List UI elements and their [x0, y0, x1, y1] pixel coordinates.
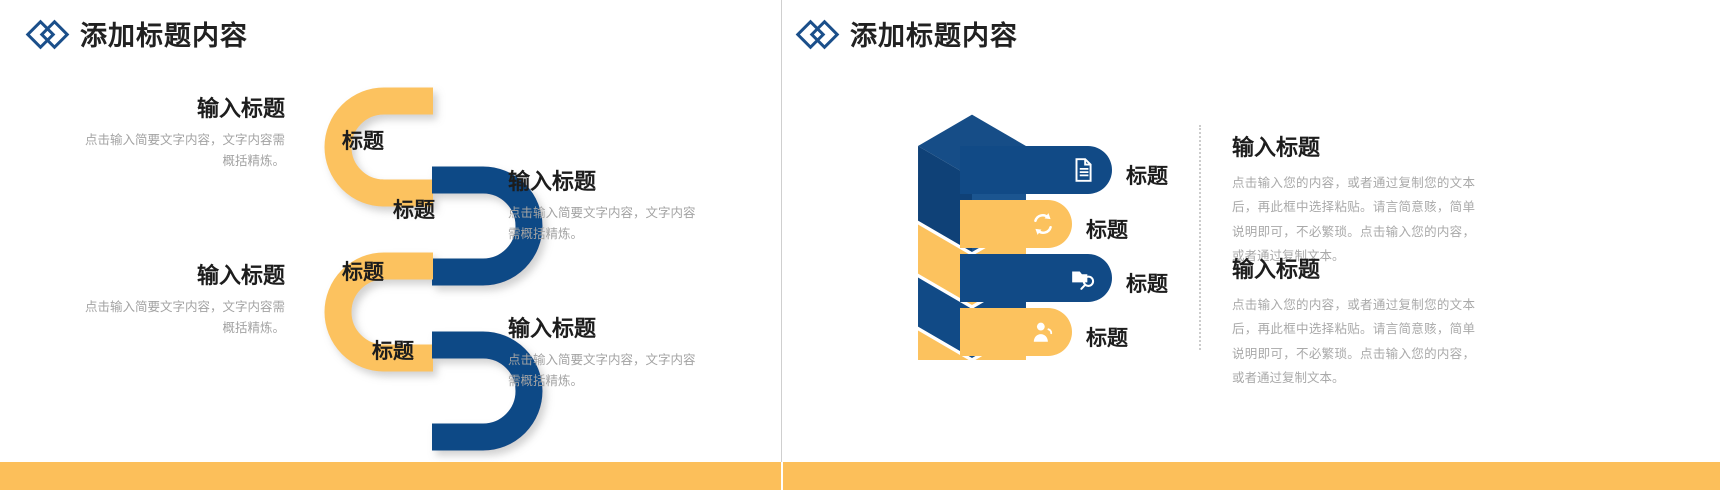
stack-bar-1[interactable] [960, 146, 1112, 194]
right-text-block-1: 输入标题 点击输入您的内容，或者通过复制您的文本后，再此框中选择粘贴。请言简意赅… [1232, 130, 1475, 269]
text-block-title: 输入标题 [80, 262, 285, 290]
text-block-title: 输入标题 [508, 168, 698, 196]
double-diamond-icon [800, 16, 836, 52]
text-block-desc: 点击输入简要文字内容，文字内容需概括精炼。 [80, 130, 285, 174]
right-text-block-2: 输入标题 点击输入您的内容，或者通过复制您的文本后，再此框中选择粘贴。请言简意赅… [1232, 252, 1475, 391]
left-text-block-1: 输入标题 点击输入简要文字内容，文字内容需概括精炼。 [80, 95, 285, 173]
stack-bar-label-2: 标题 [1086, 214, 1128, 244]
document-icon [1070, 157, 1096, 183]
user-icon [1030, 319, 1056, 345]
folder-search-icon [1070, 265, 1096, 291]
stack-bar-4[interactable] [960, 308, 1072, 356]
slide-right-header: 添加标题内容 [800, 14, 1018, 53]
left-text-block-2: 输入标题 点击输入简要文字内容，文字内容需概括精炼。 [508, 168, 698, 246]
snake-node-label-4: 标题 [372, 335, 414, 365]
snake-node-label-2: 标题 [393, 194, 435, 224]
left-text-block-4: 输入标题 点击输入简要文字内容，文字内容需概括精炼。 [508, 315, 698, 393]
snake-node-label-3: 标题 [342, 256, 384, 286]
stack-bar-label-3: 标题 [1126, 268, 1168, 298]
vertical-dotted-divider [1199, 125, 1201, 350]
text-block-title: 输入标题 [80, 95, 285, 123]
slide-left: 添加标题内容 标题 标题 标题 标题 输入 [0, 0, 781, 490]
text-block-title: 输入标题 [1232, 252, 1475, 284]
page-title: 添加标题内容 [850, 14, 1018, 53]
text-block-title: 输入标题 [508, 315, 698, 343]
stack-bar-label-4: 标题 [1086, 322, 1128, 352]
text-block-desc: 点击输入您的内容，或者通过复制您的文本后，再此框中选择粘贴。请言简意赅，简单说明… [1232, 293, 1475, 391]
sync-icon [1030, 211, 1056, 237]
stack-bar-label-1: 标题 [1126, 160, 1168, 190]
stack-bar-2[interactable] [960, 200, 1072, 248]
footer-bar [0, 462, 1720, 490]
text-block-desc: 点击输入简要文字内容，文字内容需概括精炼。 [80, 297, 285, 341]
slide-deck: 添加标题内容 标题 标题 标题 标题 输入 [0, 0, 1720, 490]
slide-separator [781, 0, 782, 462]
snake-node-label-1: 标题 [342, 125, 384, 155]
left-text-block-3: 输入标题 点击输入简要文字内容，文字内容需概括精炼。 [80, 262, 285, 340]
text-block-title: 输入标题 [1232, 130, 1475, 162]
text-block-desc: 点击输入简要文字内容，文字内容需概括精炼。 [508, 203, 698, 247]
stack-bar-3[interactable] [960, 254, 1112, 302]
text-block-desc: 点击输入简要文字内容，文字内容需概括精炼。 [508, 350, 698, 394]
footer-gap [781, 462, 783, 490]
